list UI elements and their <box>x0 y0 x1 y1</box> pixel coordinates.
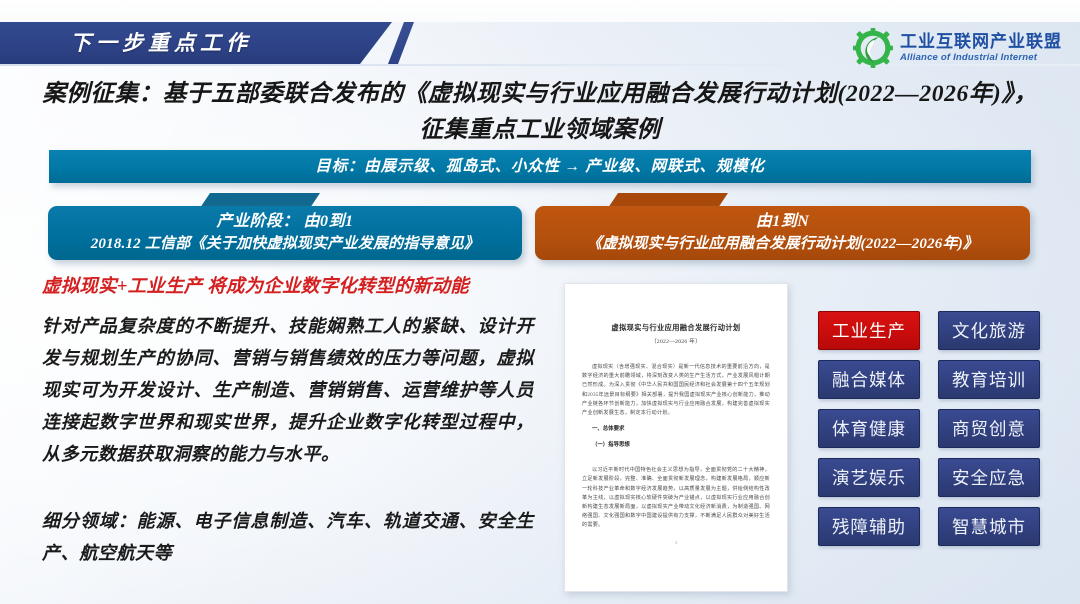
logo-text-block: 工业互联网产业联盟 Alliance of Industrial Interne… <box>900 33 1062 63</box>
callout-stage-blue: 产业阶段： 由0到1 2018.12 工信部《关于加快虚拟现实产业发展的指导意见… <box>48 206 522 260</box>
alliance-logo: 工业互联网产业联盟 Alliance of Industrial Interne… <box>853 28 1062 68</box>
gear-leaf-logo-icon <box>853 28 893 68</box>
section-header-banner: 下一步重点工作 <box>0 22 420 64</box>
header-banner-title: 下一步重点工作 <box>70 26 370 60</box>
tile-commerce-creative[interactable]: 商贸创意 <box>938 409 1040 448</box>
tile-sports-health[interactable]: 体育健康 <box>818 409 920 448</box>
callout-orange-line1: 由1到N <box>756 211 810 233</box>
document-heading-one: 一、总体要求 <box>582 425 770 434</box>
slide-canvas: 下一步重点工作 工业互联网产业联盟 <box>0 0 1080 604</box>
document-page-number: 1 <box>565 540 787 545</box>
logo-chinese-name: 工业互联网产业联盟 <box>900 33 1062 50</box>
document-body-paragraph-two: 以习近平新时代中国特色社会主义思想为指导，全面贯彻党的二十大精神，立足新发展阶段… <box>582 466 770 530</box>
callout-stage-orange: 由1到N 《虚拟现实与行业应用融合发展行动计划(2022—2026年)》 <box>535 206 1030 260</box>
page-title: 案例征集：基于五部委联合发布的《虚拟现实与行业应用融合发展行动计划(2022—2… <box>34 76 1046 148</box>
tile-culture-tourism[interactable]: 文化旅游 <box>938 311 1040 350</box>
tile-converged-media[interactable]: 融合媒体 <box>818 360 920 399</box>
document-subtitle: （2022—2026 年） <box>583 338 769 347</box>
tile-performing-arts[interactable]: 演艺娱乐 <box>818 458 920 497</box>
document-heading-two: （一）指导思想 <box>582 441 770 450</box>
tile-smart-city[interactable]: 智慧城市 <box>938 507 1040 546</box>
tile-education-training[interactable]: 教育培训 <box>938 360 1040 399</box>
left-paragraph-two: 细分领域：能源、电子信息制造、汽车、轨道交通、安全生产、航空航天等 <box>42 505 534 569</box>
target-statement-bar: 目标：由展示级、孤岛式、小众性 → 产业级、网联式、规模化 <box>49 150 1031 183</box>
callout-blue-line2: 2018.12 工信部《关于加快虚拟现实产业发展的指导意见》 <box>91 233 480 256</box>
domain-tile-grid: 工业生产 文化旅游 融合媒体 教育培训 体育健康 商贸创意 演艺娱乐 安全应急 … <box>818 311 1050 546</box>
header-slash-accent-icon <box>388 22 414 64</box>
top-white-strip <box>0 0 1080 22</box>
tile-safety-emergency[interactable]: 安全应急 <box>938 458 1040 497</box>
tile-disability-assistance[interactable]: 残障辅助 <box>818 507 920 546</box>
left-red-heading: 虚拟现实+工业生产 将成为企业数字化转型的新动能 <box>42 274 542 300</box>
logo-english-name: Alliance of Industrial Internet <box>900 53 1062 63</box>
callout-blue-line1: 产业阶段： 由0到1 <box>216 211 353 233</box>
left-paragraph-one: 针对产品复杂度的不断提升、技能娴熟工人的紧缺、设计开发与规划生产的协同、营销与销… <box>42 310 534 470</box>
policy-document-thumbnail[interactable]: 虚拟现实与行业应用融合发展行动计划 （2022—2026 年） 虚拟现实（含增强… <box>564 283 788 592</box>
document-body-paragraph-one: 虚拟现实（含增强现实、混合现实）是新一代信息技术的重要前沿方向，是数字经济的重大… <box>582 363 770 418</box>
tile-industrial-production[interactable]: 工业生产 <box>818 311 920 350</box>
document-title: 虚拟现实与行业应用融合发展行动计划 <box>583 323 769 333</box>
callout-orange-line2: 《虚拟现实与行业应用融合发展行动计划(2022—2026年)》 <box>587 233 978 256</box>
